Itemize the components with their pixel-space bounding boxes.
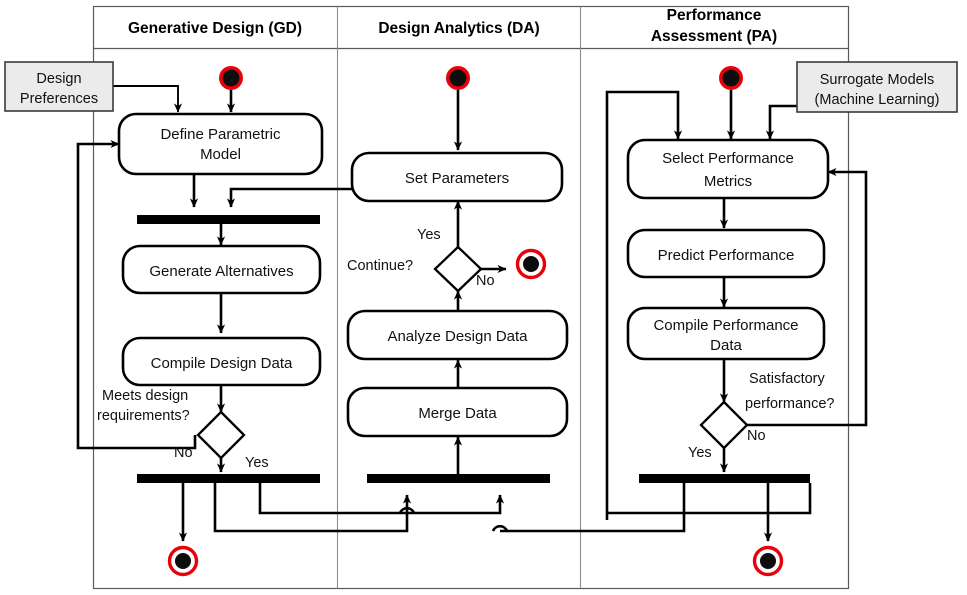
activity-select-performance-metrics[interactable]: Select Performance Metrics	[628, 140, 828, 198]
decision-question-satisfactory-performance: Satisfactory performance?	[745, 371, 834, 412]
question-line2: performance?	[745, 396, 834, 412]
lane-title-pa-line1: Performance	[667, 7, 762, 24]
join-bar-pa	[639, 474, 810, 483]
note-label-line2: (Machine Learning)	[815, 92, 940, 108]
activity-merge-data[interactable]: Merge Data	[348, 388, 567, 436]
note-label-line1: Design	[36, 71, 81, 87]
activity-label-line2: Data	[710, 337, 742, 354]
activity-define-parametric-model[interactable]: Define Parametric Model	[119, 114, 322, 174]
activity-label-line1: Define Parametric	[160, 126, 281, 143]
edge-label-gd-no: No	[174, 445, 193, 461]
initial-node-da	[446, 66, 470, 90]
activity-label: Analyze Design Data	[387, 328, 528, 345]
note-label-line1: Surrogate Models	[820, 72, 934, 88]
decision-continue[interactable]	[435, 247, 481, 291]
lane-title-gd: Generative Design (GD)	[128, 20, 302, 37]
activity-label-line1: Compile Performance	[653, 317, 798, 334]
edge-label-da-no: No	[476, 273, 495, 289]
activity-label-line2: Metrics	[704, 173, 752, 190]
lane-title-da: Design Analytics (DA)	[378, 20, 539, 37]
decision-question-meets-design-requirements: Meets design requirements?	[97, 388, 190, 424]
activity-compile-performance-data[interactable]: Compile Performance Data	[628, 308, 824, 359]
edge-label-da-yes: Yes	[417, 227, 441, 243]
final-node-pa	[755, 548, 782, 575]
activity-label: Predict Performance	[658, 247, 795, 264]
lane-header-gd: Generative Design (GD)	[128, 20, 302, 37]
note-label-line2: Preferences	[20, 91, 98, 107]
question-line1: Continue?	[347, 258, 413, 274]
activity-set-parameters[interactable]: Set Parameters	[352, 153, 562, 201]
fork-bar-gd	[137, 215, 320, 224]
activity-predict-performance[interactable]: Predict Performance	[628, 230, 824, 277]
activity-label-line2: Model	[200, 146, 241, 163]
question-line1: Meets design	[102, 388, 188, 404]
activity-label: Generate Alternatives	[149, 263, 293, 280]
join-bar-gd	[137, 474, 320, 483]
lane-header-da: Design Analytics (DA)	[378, 20, 539, 37]
decision-meets-design-requirements[interactable]	[198, 412, 244, 458]
activity-generate-alternatives[interactable]: Generate Alternatives	[123, 246, 320, 293]
note-surrogate-models[interactable]: Surrogate Models (Machine Learning)	[797, 62, 957, 112]
activity-label: Set Parameters	[405, 170, 509, 187]
edge-label-pa-no: No	[747, 428, 766, 444]
edge-label-pa-yes: Yes	[688, 445, 712, 461]
line-hops	[400, 508, 507, 531]
activity-label: Compile Design Data	[151, 355, 293, 372]
join-bar-da	[367, 474, 550, 483]
edge-label-gd-yes: Yes	[245, 455, 269, 471]
diagram-svg: Generative Design (GD) Design Analytics …	[0, 0, 967, 595]
note-design-preferences[interactable]: Design Preferences	[5, 62, 113, 111]
lane-title-pa-line2: Assessment (PA)	[651, 28, 777, 45]
initial-node-pa	[719, 66, 743, 90]
final-node-gd	[170, 548, 197, 575]
activity-label-line1: Select Performance	[662, 150, 794, 167]
question-line2: requirements?	[97, 408, 190, 424]
decision-question-continue: Continue?	[347, 258, 413, 274]
swimlane-frame	[94, 7, 849, 589]
activity-label: Merge Data	[418, 405, 497, 422]
initial-node-gd	[219, 66, 243, 90]
activity-diagram-canvas: Generative Design (GD) Design Analytics …	[0, 0, 967, 595]
activity-analyze-design-data[interactable]: Analyze Design Data	[348, 311, 567, 359]
question-line1: Satisfactory	[749, 371, 825, 387]
decision-satisfactory-performance[interactable]	[701, 402, 747, 448]
lane-header-pa: Performance Assessment (PA)	[651, 7, 777, 45]
activity-compile-design-data[interactable]: Compile Design Data	[123, 338, 320, 385]
final-node-da	[518, 251, 545, 278]
